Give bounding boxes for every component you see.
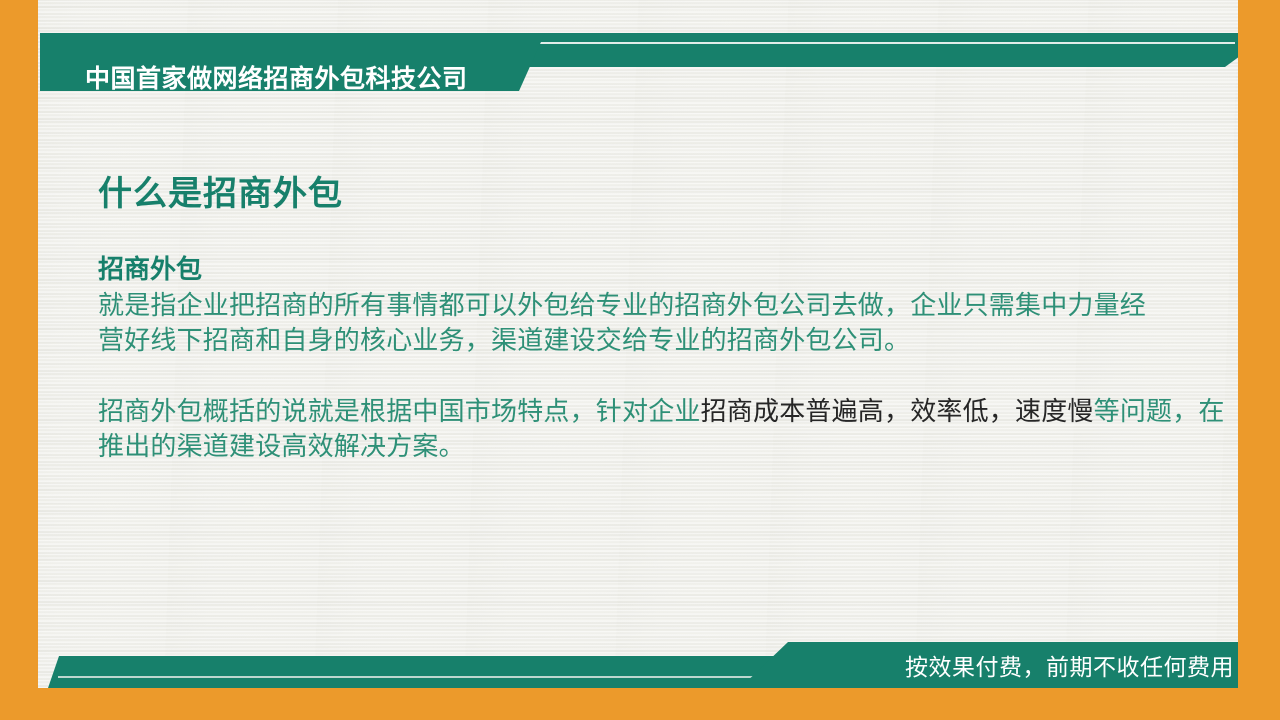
paragraph-two: 招商外包概括的说就是根据中国市场特点，针对企业招商成本普遍高，效率低，速度慢等问…	[98, 394, 1238, 464]
footer-tagline: 按效果付费，前期不收任何费用	[905, 648, 1234, 682]
header-title: 中国首家做网络招商外包科技公司	[85, 59, 468, 95]
page-title: 什么是招商外包	[98, 172, 1228, 216]
header-green-block: 中国首家做网络招商外包科技公司	[40, 33, 545, 91]
lead-label: 招商外包	[98, 252, 1228, 286]
slide-footer: 按效果付费，前期不收任何费用	[0, 640, 1280, 700]
paragraph-two-part-one: 招商外包概括的说就是根据中国市场特点，针对企业	[98, 396, 701, 426]
paragraph-one: 就是指企业把招商的所有事情都可以外包给专业的招商外包公司去做，企业只需集中力量经…	[98, 288, 1158, 358]
slide-header: 中国首家做网络招商外包科技公司	[0, 28, 1280, 100]
paragraph-two-highlight: 招商成本普遍高，效率低，速度慢	[701, 396, 1094, 426]
slide-canvas: 中国首家做网络招商外包科技公司 什么是招商外包 招商外包 就是指企业把招商的所有…	[0, 0, 1280, 720]
content-area: 什么是招商外包 招商外包 就是指企业把招商的所有事情都可以外包给专业的招商外包公…	[98, 172, 1228, 464]
